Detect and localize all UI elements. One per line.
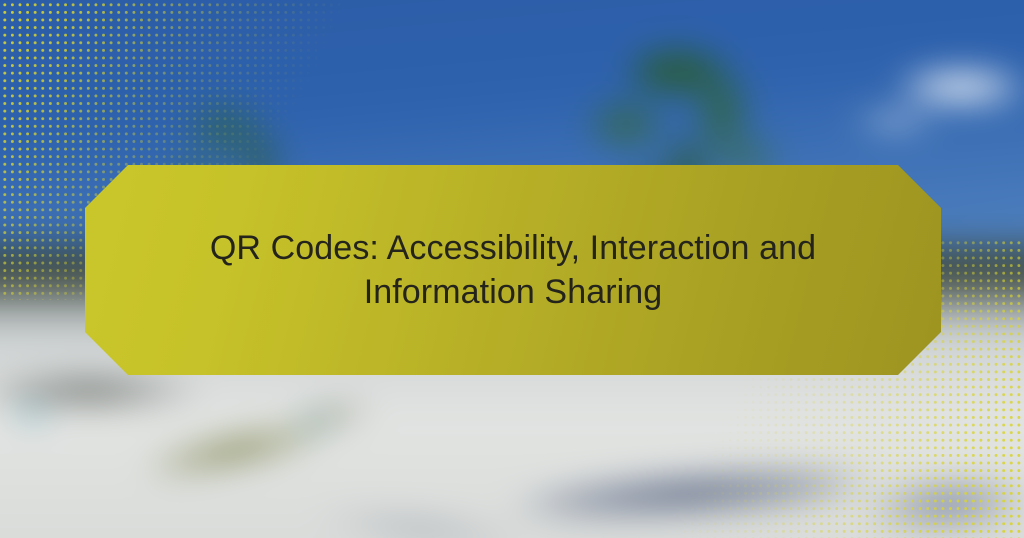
slide-canvas: QR Codes: Accessibility, Interaction and…: [0, 0, 1024, 538]
title-banner: QR Codes: Accessibility, Interaction and…: [85, 165, 941, 375]
page-title: QR Codes: Accessibility, Interaction and…: [163, 226, 863, 314]
water-patch-center: [283, 414, 343, 436]
cloud-secondary: [820, 98, 970, 144]
page-title-line-2: Information Sharing: [364, 273, 663, 311]
page-title-line-1: QR Codes: Accessibility, Interaction and: [210, 229, 816, 267]
